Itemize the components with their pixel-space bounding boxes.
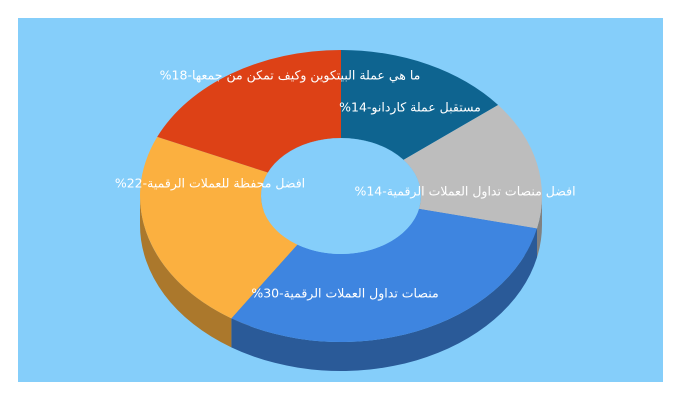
slice-label-3: منصات تداول العملات الرقمية-30% [251, 286, 438, 302]
chart-figure: مستقبل عملة كاردانو-14%افضل منصات تداول … [0, 0, 680, 400]
slice-label-2: افضل منصات تداول العملات الرقمية-14% [354, 184, 575, 200]
doughnut-3d-chart: مستقبل عملة كاردانو-14%افضل منصات تداول … [0, 0, 680, 400]
slice-label-5: ما هي عملة البيتكوين وكيف تمكن من جمعها-… [160, 68, 421, 84]
slice-label-1: مستقبل عملة كاردانو-14% [339, 100, 481, 116]
slice-label-4: افضل محفظة للعملات الرقمية-22% [115, 176, 305, 192]
